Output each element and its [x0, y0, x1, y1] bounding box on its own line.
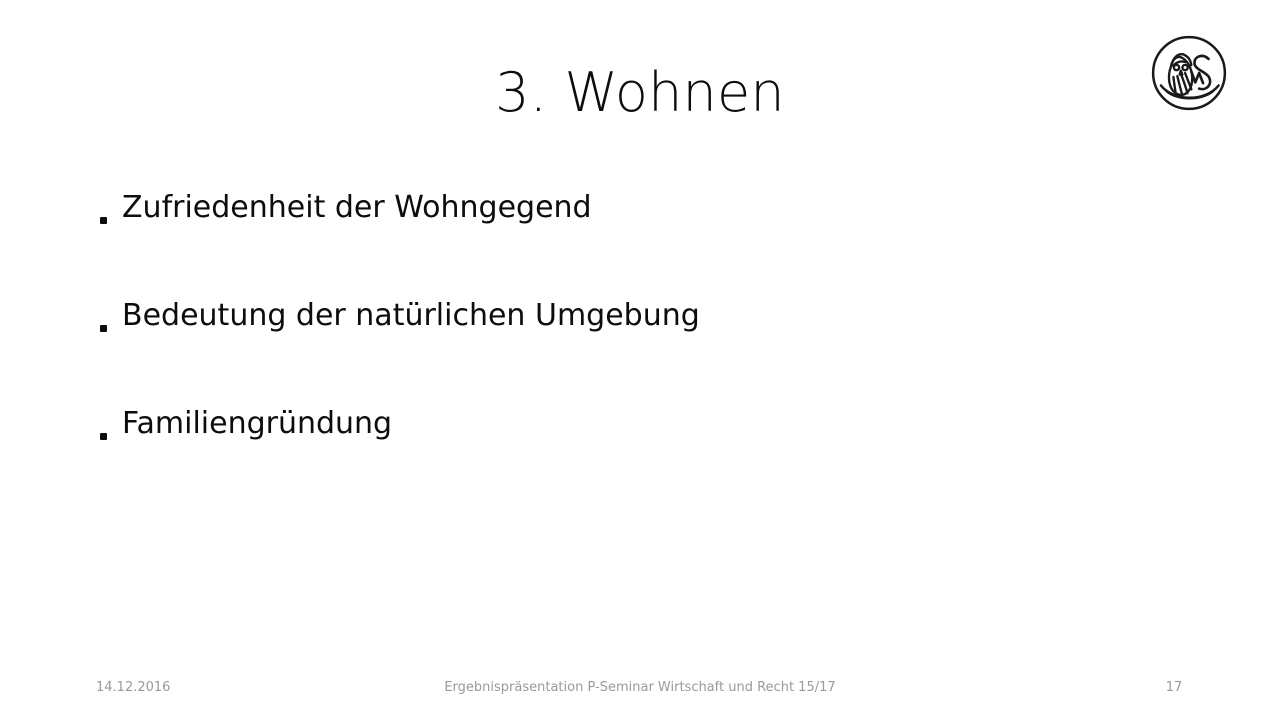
slide-footer: 14.12.2016 Ergebnispräsentation P-Semina… [0, 675, 1280, 701]
footer-presentation-title: Ergebnispräsentation P-Seminar Wirtschaf… [0, 675, 1280, 701]
list-item-label: Zufriedenheit der Wohngegend [122, 186, 592, 230]
square-bullet-icon [100, 433, 107, 440]
footer-page-number: 17 [1100, 675, 1248, 701]
slide-canvas: 3. Wohnen Zufriedenheit der Wohngegend B… [0, 0, 1280, 720]
bullet-list: Zufriedenheit der Wohngegend Bedeutung d… [96, 186, 1186, 510]
list-item: Bedeutung der natürlichen Umgebung [96, 294, 1186, 402]
page-title: 3. Wohnen [0, 66, 1280, 120]
list-item: Familiengründung [96, 402, 1186, 510]
list-item: Zufriedenheit der Wohngegend [96, 186, 1186, 294]
square-bullet-icon [100, 325, 107, 332]
list-item-label: Bedeutung der natürlichen Umgebung [122, 294, 700, 338]
list-item-label: Familiengründung [122, 402, 392, 446]
square-bullet-icon [100, 217, 107, 224]
